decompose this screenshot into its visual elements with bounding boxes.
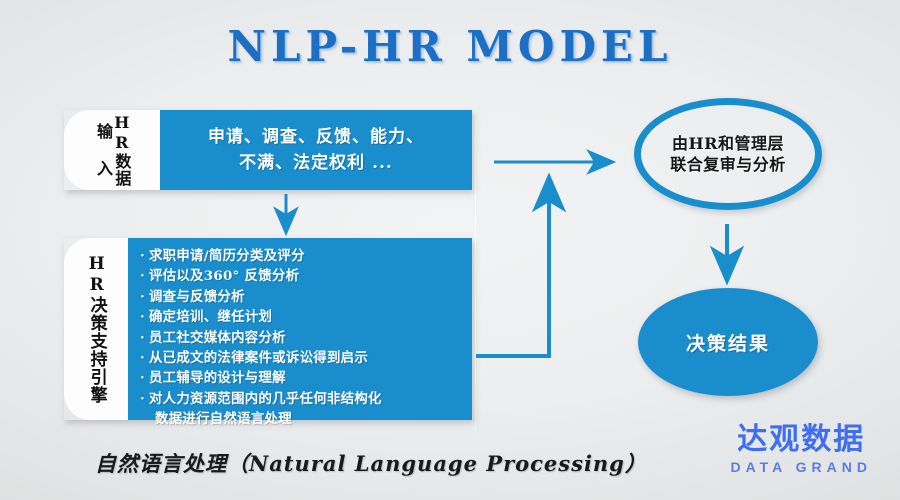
bullet-icon: ·	[140, 268, 145, 284]
engine-capability-text: 员工辅导的设计与理解	[149, 370, 286, 386]
brand-logo-cn: 达观数据	[730, 424, 872, 456]
slide-canvas: NLP-HR MODEL 输 入 HR数据 申请、调查、反馈、能力、 不满、法定…	[0, 0, 900, 500]
arrow-engine-to-review	[476, 178, 549, 356]
footer-caption: 自然语言处理（Natural Language Processing）	[95, 448, 647, 478]
engine-panel-label-holder: HR决策支持引擎	[64, 238, 128, 420]
engine-panel-body: ·求职申请/简历分类及评分·评估以及360° 反馈分析·调查与反馈分析·确定培训…	[128, 238, 472, 420]
review-circle: 由HR和管理层 联合复审与分析	[634, 98, 822, 210]
review-circle-line2: 联合复审与分析	[670, 154, 786, 175]
engine-capability-item: ·求职申请/简历分类及评分	[140, 246, 466, 266]
engine-capability-text: 确定培训、继任计划	[149, 309, 272, 325]
bullet-icon: ·	[140, 248, 145, 264]
engine-capability-item: ·评估以及360° 反馈分析	[140, 266, 466, 286]
engine-panel-label: HR决策支持引擎	[87, 254, 104, 404]
bullet-icon: ·	[140, 330, 145, 346]
engine-capability-item: ·员工辅导的设计与理解	[140, 368, 466, 388]
input-item-line: 不满、法定权利 ...	[239, 150, 393, 176]
engine-capability-text-cont: 数据进行自然语言处理	[140, 409, 466, 429]
engine-capability-text: 评估以及360° 反馈分析	[149, 268, 299, 284]
input-data-panel: 输 入 HR数据 申请、调查、反馈、能力、 不满、法定权利 ...	[64, 110, 472, 190]
page-title: NLP-HR MODEL	[0, 22, 900, 71]
review-circle-label: 由HR和管理层 联合复审与分析	[670, 133, 786, 175]
input-label-left: 输 入	[95, 123, 111, 177]
review-circle-line1: 由HR和管理层	[670, 133, 786, 154]
input-item-line: 申请、调查、反馈、能力、	[208, 124, 424, 150]
engine-capability-text: 调查与反馈分析	[149, 289, 245, 305]
engine-capability-text: 员工社交媒体内容分析	[149, 330, 286, 346]
engine-capability-item: ·对人力资源范围内的几乎任何非结构化数据进行自然语言处理	[140, 389, 466, 430]
input-panel-labels: 输 入 HR数据	[64, 110, 160, 190]
engine-capability-item: ·员工社交媒体内容分析	[140, 328, 466, 348]
input-label-right: HR数据	[113, 113, 129, 187]
engine-capability-text: 对人力资源范围内的几乎任何非结构化	[149, 391, 382, 407]
input-panel-body: 申请、调查、反馈、能力、 不满、法定权利 ...	[160, 110, 472, 190]
engine-capability-list: ·求职申请/简历分类及评分·评估以及360° 反馈分析·调查与反馈分析·确定培训…	[128, 238, 472, 420]
engine-capability-item: ·调查与反馈分析	[140, 287, 466, 307]
section-divider	[475, 96, 476, 448]
hr-decision-engine-panel: HR决策支持引擎 ·求职申请/简历分类及评分·评估以及360° 反馈分析·调查与…	[64, 238, 472, 420]
brand-logo-en: DATA GRAND	[730, 459, 872, 475]
engine-capability-text: 求职申请/简历分类及评分	[149, 248, 305, 264]
input-items-list: 申请、调查、反馈、能力、 不满、法定权利 ...	[160, 110, 472, 190]
result-circle: 决策结果	[638, 288, 818, 396]
engine-capability-item: ·确定培训、继任计划	[140, 307, 466, 327]
result-circle-label: 决策结果	[686, 329, 770, 356]
bullet-icon: ·	[140, 370, 145, 386]
bullet-icon: ·	[140, 391, 145, 407]
engine-capability-text: 从已成文的法律案件或诉讼得到启示	[149, 350, 368, 366]
bullet-icon: ·	[140, 289, 145, 305]
brand-logo: 达观数据 DATA GRAND	[730, 424, 872, 475]
bullet-icon: ·	[140, 350, 145, 366]
bullet-icon: ·	[140, 309, 145, 325]
engine-capability-item: ·从已成文的法律案件或诉讼得到启示	[140, 348, 466, 368]
